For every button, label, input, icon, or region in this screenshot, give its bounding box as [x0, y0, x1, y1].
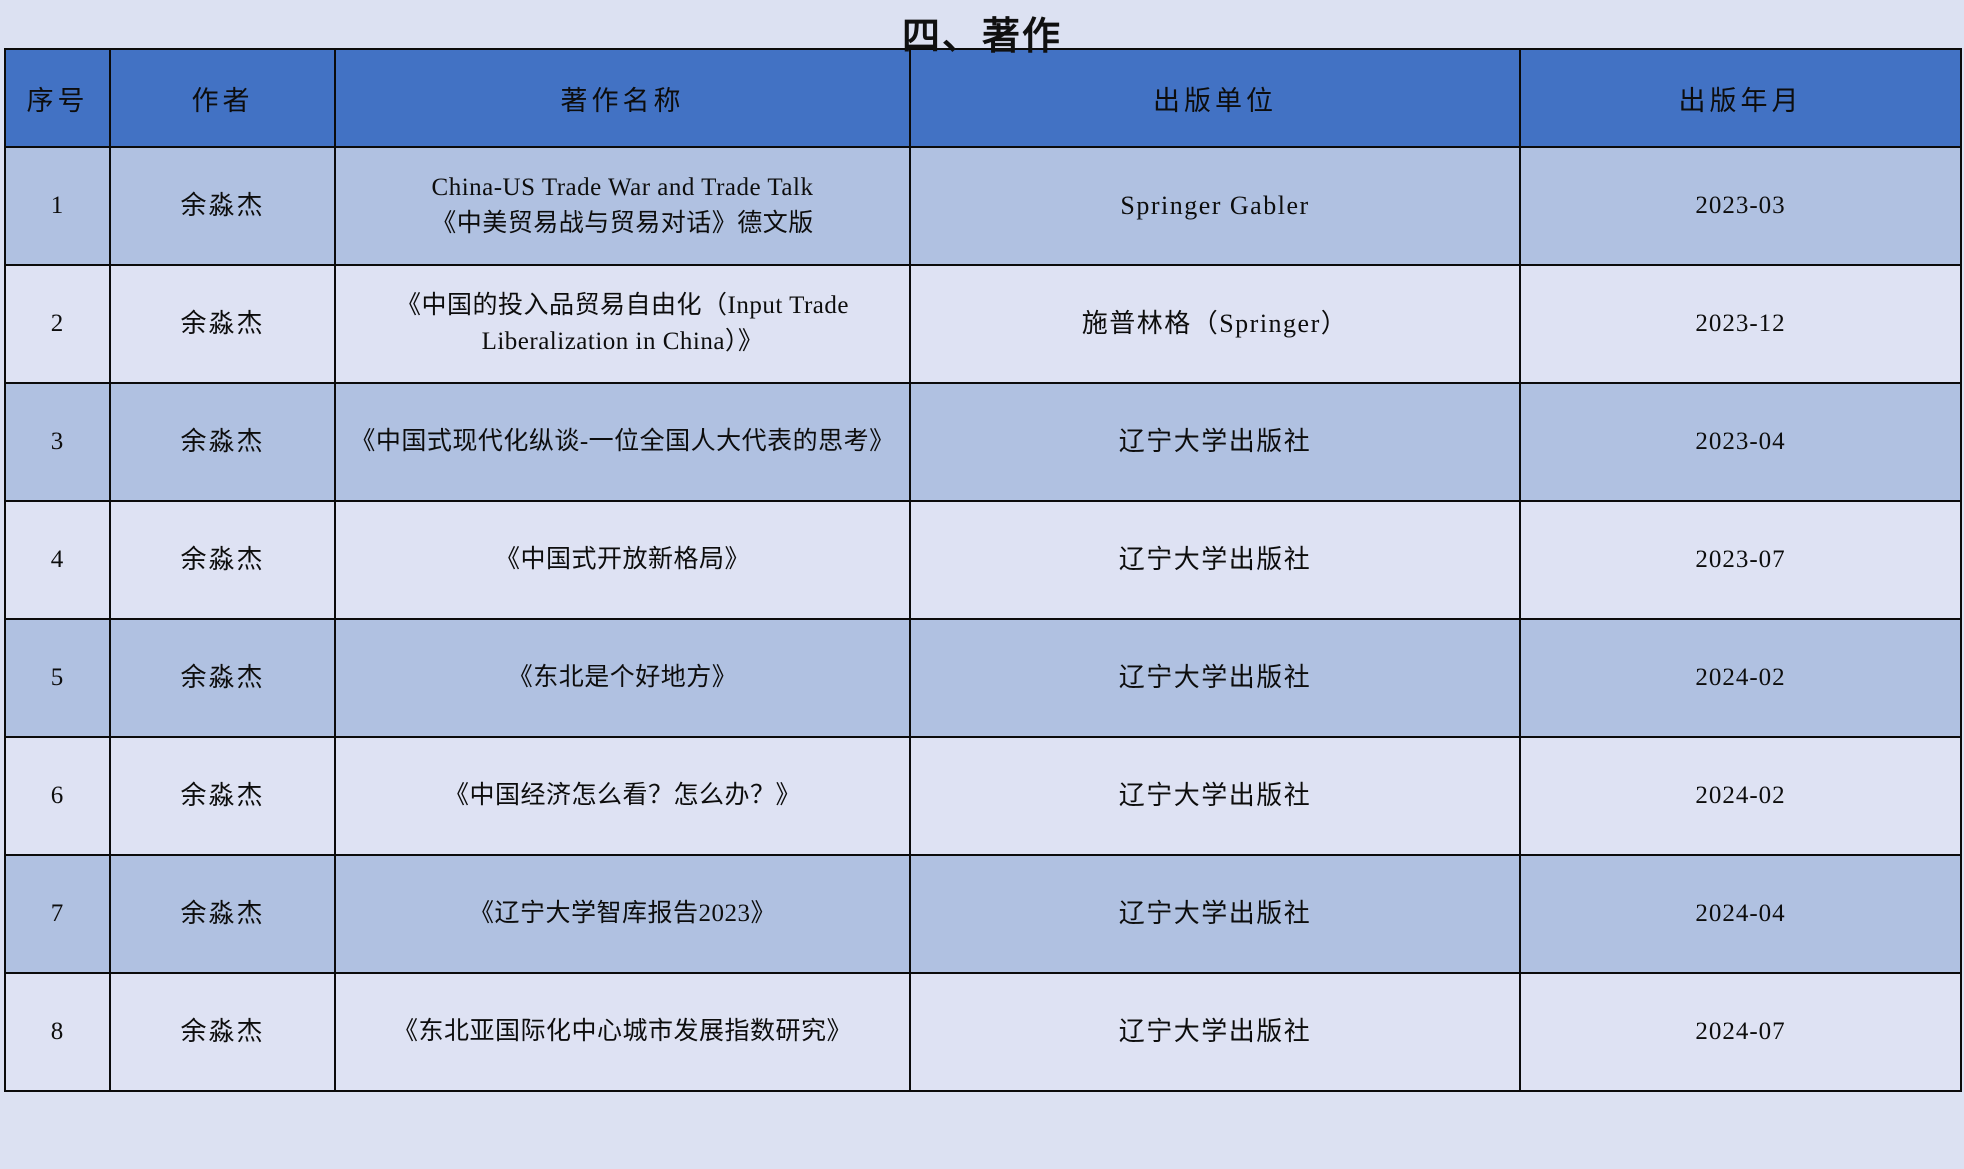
work-name-line-1: 《东北是个好地方》	[344, 660, 901, 696]
work-name-line-1: 《中国式现代化纵谈-一位全国人大代表的思考》	[344, 424, 901, 460]
column-header-publisher: 出版单位	[910, 49, 1520, 147]
cell-index: 8	[5, 973, 110, 1091]
work-name-line-1: 《辽宁大学智库报告2023》	[344, 896, 901, 932]
document-page: 四、著作 序号 作者 著作名称 出版单位 出版年月 1余淼杰China-US T…	[0, 0, 1964, 1169]
work-name-line-1: 《东北亚国际化中心城市发展指数研究》	[344, 1014, 901, 1050]
table-row: 1余淼杰China-US Trade War and Trade Talk《中美…	[5, 147, 1961, 265]
work-name-line-1: 《中国式开放新格局》	[344, 542, 901, 578]
column-header-work-name: 著作名称	[335, 49, 910, 147]
table-header: 序号 作者 著作名称 出版单位 出版年月	[5, 49, 1961, 147]
table-header-row: 序号 作者 著作名称 出版单位 出版年月	[5, 49, 1961, 147]
work-name-line-1: 《中国经济怎么看？怎么办？》	[344, 778, 901, 814]
cell-index: 4	[5, 501, 110, 619]
cell-author: 余淼杰	[110, 855, 335, 973]
table-row: 2余淼杰《中国的投入品贸易自由化（Input TradeLiberalizati…	[5, 265, 1961, 383]
cell-pub-date: 2023-07	[1520, 501, 1961, 619]
work-name-line-2: 《中美贸易战与贸易对话》德文版	[344, 206, 901, 242]
cell-publisher: 辽宁大学出版社	[910, 855, 1520, 973]
cell-work-name: 《中国的投入品贸易自由化（Input TradeLiberalization i…	[335, 265, 910, 383]
cell-work-name: 《中国式开放新格局》	[335, 501, 910, 619]
work-name-line-1: 《中国的投入品贸易自由化（Input Trade	[344, 288, 901, 324]
cell-author: 余淼杰	[110, 973, 335, 1091]
table-row: 5余淼杰《东北是个好地方》辽宁大学出版社2024-02	[5, 619, 1961, 737]
cell-index: 1	[5, 147, 110, 265]
cell-index: 2	[5, 265, 110, 383]
column-header-pub-date: 出版年月	[1520, 49, 1961, 147]
cell-index: 5	[5, 619, 110, 737]
works-table: 序号 作者 著作名称 出版单位 出版年月 1余淼杰China-US Trade …	[4, 48, 1962, 1092]
cell-pub-date: 2023-12	[1520, 265, 1961, 383]
cell-pub-date: 2024-07	[1520, 973, 1961, 1091]
cell-author: 余淼杰	[110, 147, 335, 265]
cell-pub-date: 2024-04	[1520, 855, 1961, 973]
table-row: 4余淼杰《中国式开放新格局》辽宁大学出版社2023-07	[5, 501, 1961, 619]
cell-publisher: 辽宁大学出版社	[910, 501, 1520, 619]
cell-index: 6	[5, 737, 110, 855]
column-header-author: 作者	[110, 49, 335, 147]
page-title: 四、著作	[0, 0, 1964, 48]
cell-work-name: 《辽宁大学智库报告2023》	[335, 855, 910, 973]
cell-author: 余淼杰	[110, 501, 335, 619]
cell-index: 7	[5, 855, 110, 973]
cell-author: 余淼杰	[110, 383, 335, 501]
cell-work-name: 《东北亚国际化中心城市发展指数研究》	[335, 973, 910, 1091]
cell-publisher: 施普林格（Springer）	[910, 265, 1520, 383]
work-name-line-1: China-US Trade War and Trade Talk	[344, 170, 901, 206]
table-row: 3余淼杰《中国式现代化纵谈-一位全国人大代表的思考》辽宁大学出版社2023-04	[5, 383, 1961, 501]
work-name-line-2: Liberalization in China）》	[344, 324, 901, 360]
table-row: 6余淼杰《中国经济怎么看？怎么办？》辽宁大学出版社2024-02	[5, 737, 1961, 855]
table-row: 8余淼杰《东北亚国际化中心城市发展指数研究》辽宁大学出版社2024-07	[5, 973, 1961, 1091]
cell-author: 余淼杰	[110, 737, 335, 855]
cell-publisher: 辽宁大学出版社	[910, 737, 1520, 855]
cell-index: 3	[5, 383, 110, 501]
table-row: 7余淼杰《辽宁大学智库报告2023》辽宁大学出版社2024-04	[5, 855, 1961, 973]
cell-publisher: 辽宁大学出版社	[910, 619, 1520, 737]
cell-work-name: 《中国式现代化纵谈-一位全国人大代表的思考》	[335, 383, 910, 501]
cell-publisher: 辽宁大学出版社	[910, 383, 1520, 501]
cell-author: 余淼杰	[110, 619, 335, 737]
cell-work-name: 《东北是个好地方》	[335, 619, 910, 737]
cell-author: 余淼杰	[110, 265, 335, 383]
cell-pub-date: 2024-02	[1520, 737, 1961, 855]
cell-work-name: 《中国经济怎么看？怎么办？》	[335, 737, 910, 855]
cell-pub-date: 2023-03	[1520, 147, 1961, 265]
cell-publisher: 辽宁大学出版社	[910, 973, 1520, 1091]
cell-pub-date: 2023-04	[1520, 383, 1961, 501]
cell-publisher: Springer Gabler	[910, 147, 1520, 265]
column-header-index: 序号	[5, 49, 110, 147]
cell-pub-date: 2024-02	[1520, 619, 1961, 737]
table-body: 1余淼杰China-US Trade War and Trade Talk《中美…	[5, 147, 1961, 1091]
cell-work-name: China-US Trade War and Trade Talk《中美贸易战与…	[335, 147, 910, 265]
